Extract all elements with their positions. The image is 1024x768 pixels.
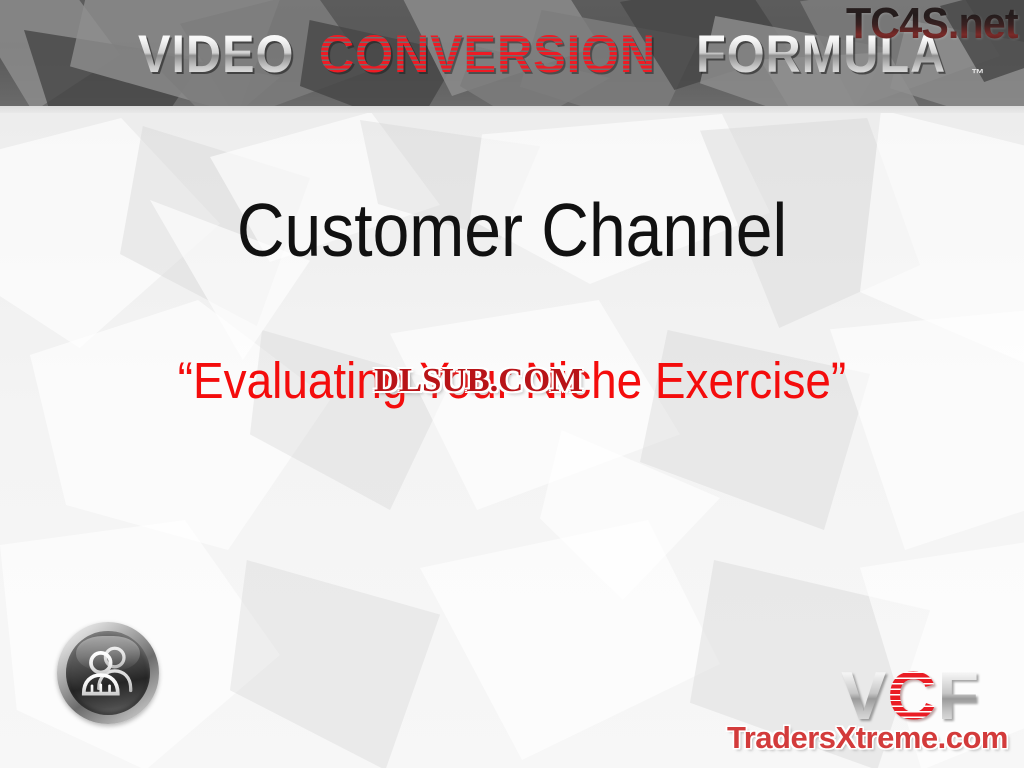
slide-canvas: VIDEO CONVERSION FORMULA ™ TC4S.net Cust… [0, 0, 1024, 768]
page-title: Customer Channel [61, 193, 962, 268]
masthead-word-conversion: CONVERSION [319, 28, 656, 81]
header-underline-strip [0, 106, 1024, 113]
people-glyph [75, 640, 141, 706]
masthead-word-video: VIDEO [138, 28, 294, 81]
tc4s-watermark: TC4S.net [846, 2, 1018, 46]
header-band: VIDEO CONVERSION FORMULA ™ TC4S.net [0, 0, 1024, 106]
people-group-icon [57, 622, 159, 724]
dlsub-watermark: DLSUB.COM [374, 364, 583, 398]
trademark-symbol: ™ [971, 67, 985, 80]
tradersxtreme-wordmark: TradersXtreme.com [727, 722, 1008, 753]
